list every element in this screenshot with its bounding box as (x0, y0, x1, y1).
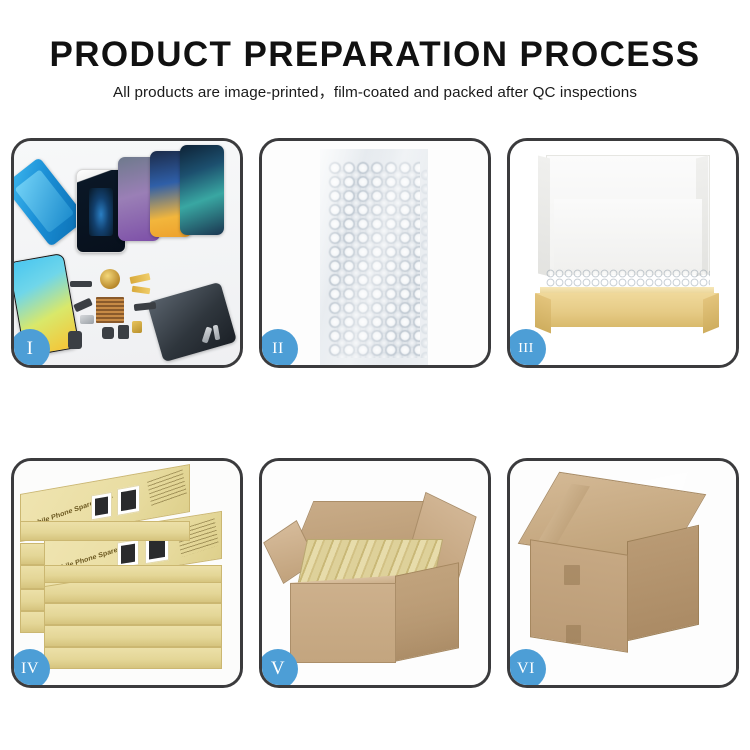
process-step-grid: I II III (11, 138, 739, 688)
connector-part-icon (73, 298, 93, 313)
step-badge-3: III (510, 329, 546, 365)
page-subtitle: All products are image-printed，film-coat… (0, 83, 750, 103)
sealed-carton-side-icon (627, 525, 699, 642)
process-step-panel-4: Mobile Phone Spare Parts Mobile Phone Sp… (11, 458, 243, 688)
carton-tab-lower (566, 625, 581, 643)
process-step-panel-3: III (507, 138, 739, 368)
mailer-lid-left-flap (538, 156, 550, 277)
step-2-image: II (262, 141, 488, 365)
product-preparation-infographic: PRODUCT PREPARATION PROCESS All products… (0, 0, 750, 750)
printed-box-side-front (44, 565, 222, 583)
step-badge-1: I (14, 329, 50, 365)
carton-front-face-icon (290, 583, 396, 663)
kraft-box-front-icon (536, 293, 718, 327)
stacked-box-slab (44, 647, 222, 669)
phone-back-housing-icon (147, 282, 237, 363)
process-step-panel-5: V (259, 458, 491, 688)
step-badge-2: II (262, 329, 298, 365)
box-screen-thumb (91, 492, 112, 521)
process-step-panel-2: II (259, 138, 491, 368)
step-3-image: III (510, 141, 736, 365)
flex-cable-part-icon (129, 273, 150, 284)
carton-tab-upper (564, 565, 580, 585)
sim-tray-part-icon (132, 321, 142, 333)
chip-grid-part-icon (96, 297, 124, 323)
battery-part-icon (68, 331, 82, 349)
page-title: PRODUCT PREPARATION PROCESS (0, 34, 750, 76)
kraft-box-stack-icon: Mobile Phone Spare Parts Mobile Phone Sp… (14, 461, 240, 685)
process-step-panel-6: VI (507, 458, 739, 688)
box-screen-thumb (117, 485, 140, 516)
step-6-image: VI (510, 461, 736, 685)
step-badge-5: V (262, 649, 298, 685)
step-4-image: Mobile Phone Spare Parts Mobile Phone Sp… (14, 461, 240, 685)
step-1-image: I (14, 141, 240, 365)
step-badge-6: VI (510, 649, 546, 685)
vibrator-part-icon (118, 325, 129, 339)
speaker-part-icon (100, 269, 120, 289)
earpiece-part-icon (70, 281, 92, 287)
phone-screen-teal-icon (180, 145, 224, 235)
step-5-image: V (262, 461, 488, 685)
metal-bracket-part-icon (80, 315, 94, 324)
camera-part-icon (102, 327, 114, 339)
step-badge-4: IV (14, 649, 50, 685)
stacked-box-slab (44, 625, 222, 647)
foam-sheet-icon (554, 199, 702, 273)
plastic-sheen (320, 149, 428, 365)
header: PRODUCT PREPARATION PROCESS All products… (0, 34, 750, 103)
flex-cable2-part-icon (132, 286, 151, 294)
printed-box-side-back (20, 521, 190, 541)
carton-side-face-icon (395, 562, 459, 662)
process-step-panel-1: I (11, 138, 243, 368)
box-spec-lines (147, 469, 187, 506)
stacked-box-slab (44, 603, 222, 625)
bubble-wrap-pouch-icon (320, 149, 428, 365)
stacked-box-slab (44, 581, 222, 603)
